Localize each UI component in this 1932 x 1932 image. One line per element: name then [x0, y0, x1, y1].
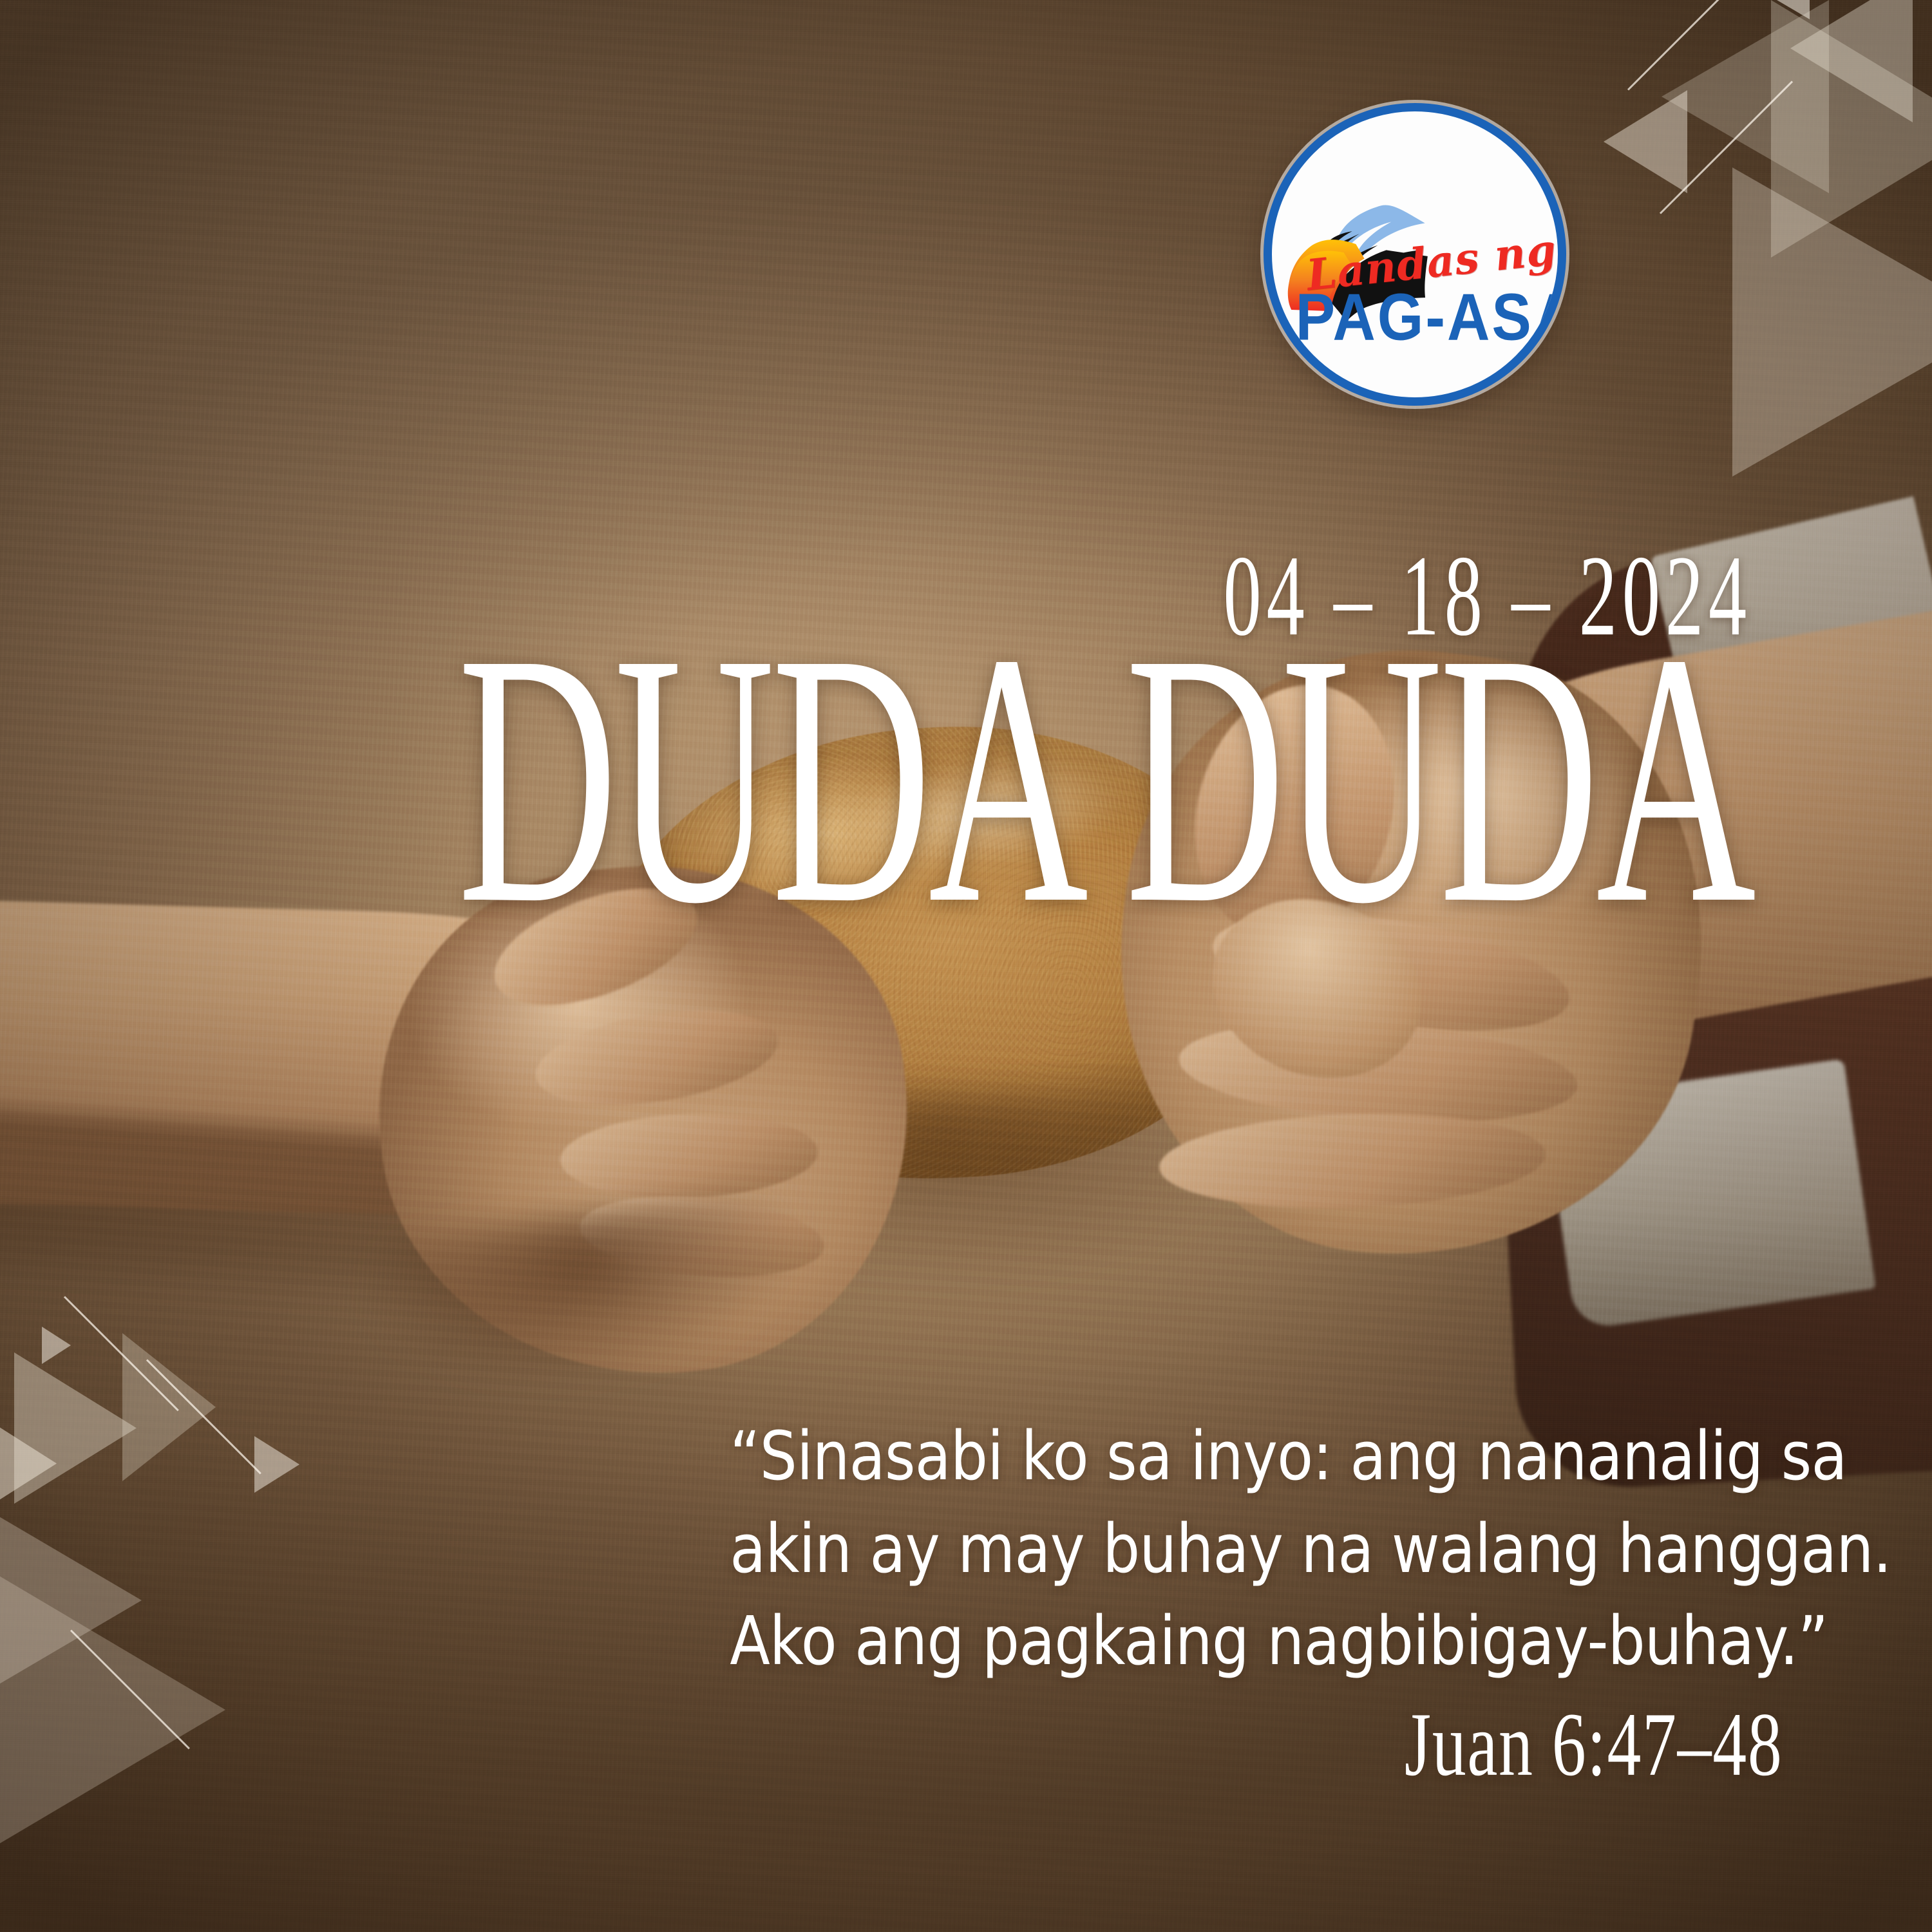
scripture-quote: “Sinasabi ko sa inyo: ang nananalig sa a…: [730, 1410, 1784, 1688]
logo-wordmark: Landas ng PAG-ASA: [1272, 243, 1558, 347]
poster-canvas: Landas ng PAG-ASA 04 – 18 – 2024 DUDA DU…: [0, 0, 1932, 1932]
logo-main-line: PAG-ASA: [1294, 285, 1566, 351]
scripture-line: Ako ang pagkaing nagbibigay-buhay.”: [730, 1595, 1784, 1688]
logo-badge[interactable]: Landas ng PAG-ASA: [1264, 103, 1566, 406]
page-title: DUDA DUDA: [350, 629, 1753, 931]
scripture-line: akin ay may buhay na walang hanggan.: [730, 1503, 1784, 1596]
scripture-line: “Sinasabi ko sa inyo: ang nananalig sa: [730, 1410, 1784, 1503]
scripture-citation: Juan 6:47–48: [1404, 1693, 1783, 1797]
